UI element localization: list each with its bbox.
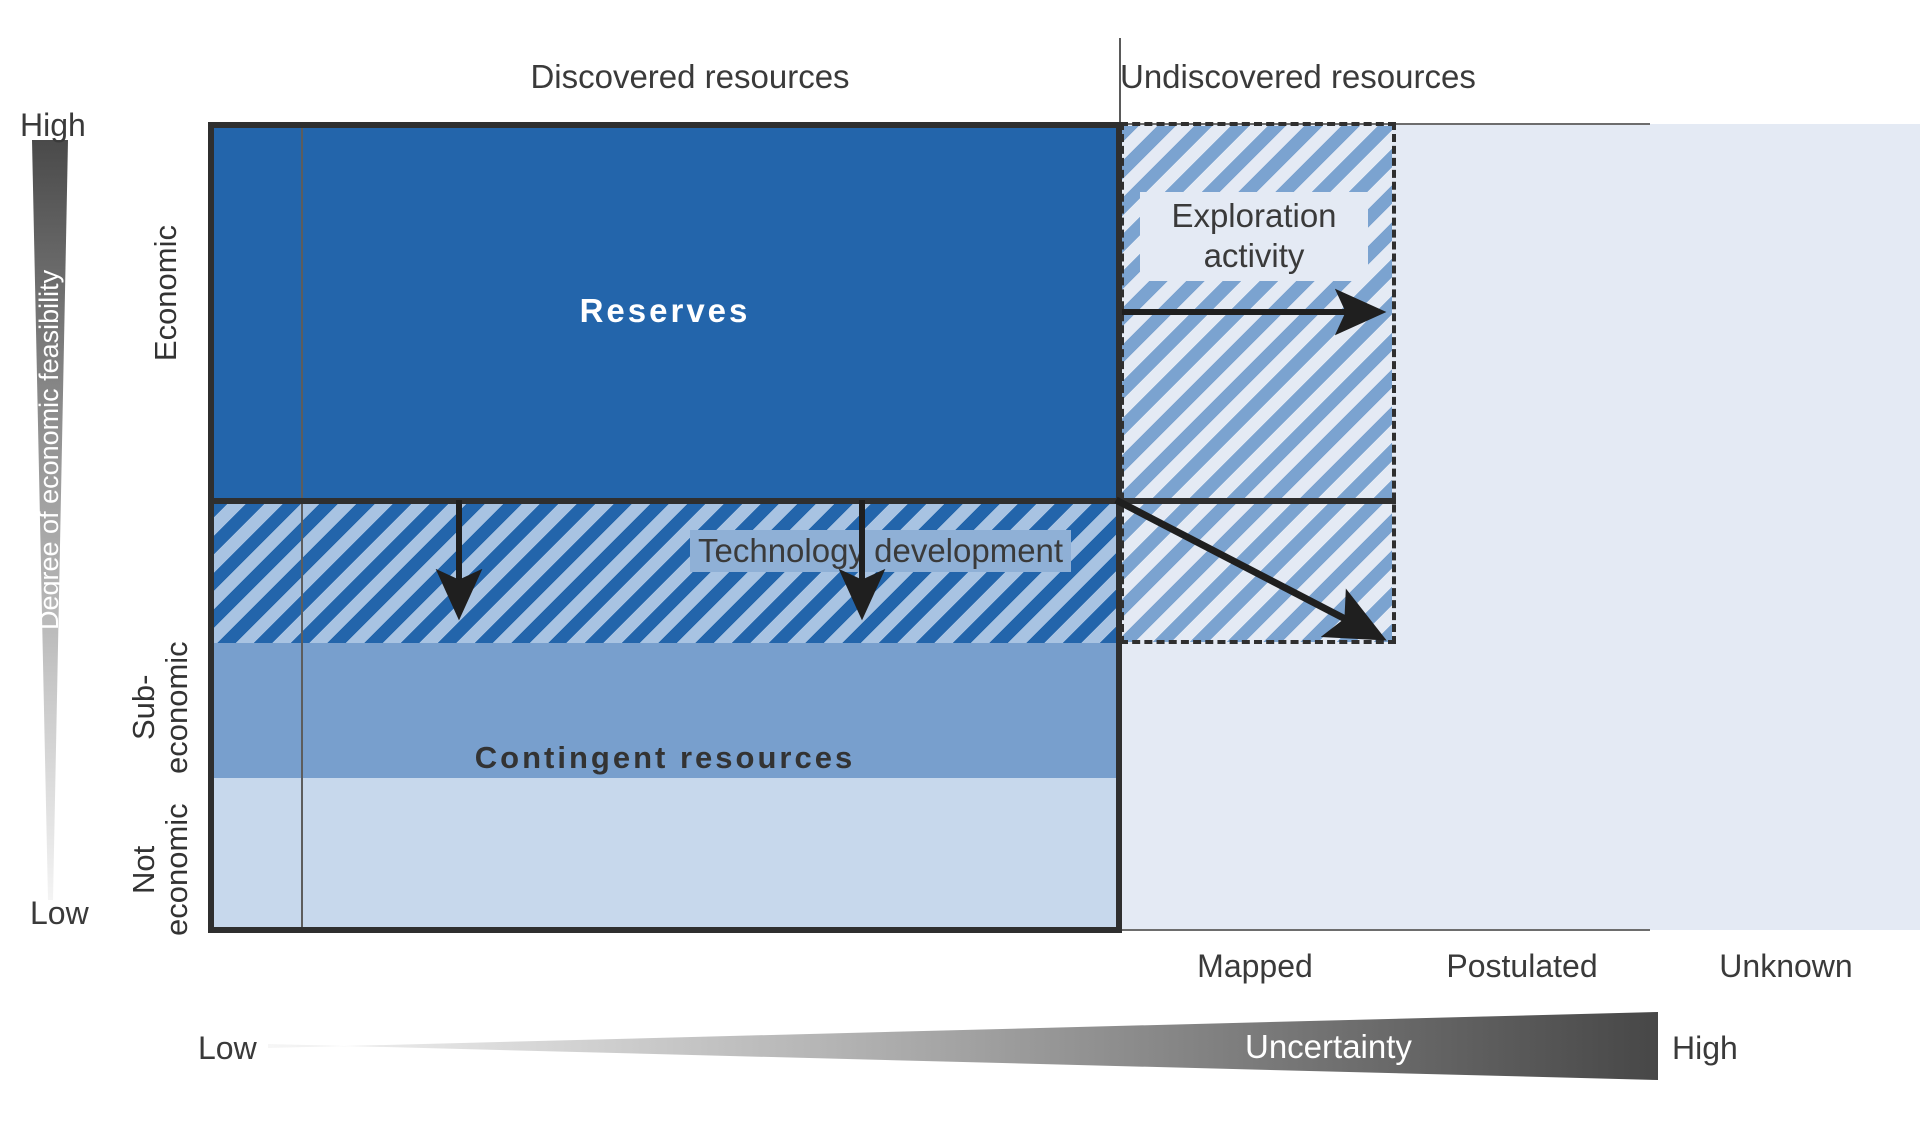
undiscovered-mid-rule bbox=[1120, 498, 1396, 504]
xcat-unknown-text: Unknown bbox=[1719, 948, 1852, 984]
uncertainty-low-label: Low bbox=[198, 1030, 257, 1067]
technology-development-label: Technology development bbox=[690, 530, 1071, 572]
reserves-label: Reserves bbox=[212, 292, 1118, 330]
axis-category-economic: Economic bbox=[150, 225, 183, 361]
discovered-interior-rule bbox=[301, 126, 303, 929]
not-economic-region bbox=[212, 778, 1118, 929]
axis-category-noteconomic-line2: economic bbox=[159, 804, 194, 937]
axis-category-noteconomic-line1: Not bbox=[126, 846, 161, 894]
xcat-mapped-text: Mapped bbox=[1197, 948, 1313, 984]
exploration-activity-line2: activity bbox=[1204, 237, 1305, 274]
economic-feasibility-gradient-label: Degree of economic feasibility bbox=[34, 150, 65, 630]
axis-category-economic-text: Economic bbox=[148, 225, 183, 361]
header-discovered-resources: Discovered resources bbox=[260, 58, 1120, 96]
header-undiscovered-resources: Undiscovered resources bbox=[1120, 58, 1920, 96]
undiscovered-economic-hatched-cell bbox=[1122, 126, 1392, 498]
undiscovered-subeconomic-hatched-cell bbox=[1122, 504, 1392, 642]
axis-category-subeconomic-line2: economic bbox=[159, 641, 194, 774]
axis-high-label: High bbox=[20, 107, 86, 144]
undiscovered-top-rule bbox=[1120, 123, 1650, 125]
uncertainty-high-label: High bbox=[1672, 1030, 1738, 1067]
xcat-unknown: Unknown bbox=[1652, 948, 1920, 985]
exploration-activity-line1: Exploration bbox=[1171, 197, 1336, 234]
uncertainty-label: Uncertainty bbox=[1245, 1028, 1412, 1066]
contingent-resources-label: Contingent resources bbox=[212, 740, 1118, 776]
axis-category-noteconomic: Not economic bbox=[128, 800, 193, 947]
gradient-label-text: Degree of economic feasibility bbox=[34, 270, 64, 630]
axis-category-subeconomic-line1: Sub- bbox=[126, 675, 161, 740]
xcat-postulated-text: Postulated bbox=[1446, 948, 1597, 984]
axis-category-subeconomic: Sub- economic bbox=[128, 635, 193, 787]
axis-low-label: Low bbox=[30, 895, 89, 932]
uncertainty-gradient bbox=[268, 1006, 1658, 1086]
xcat-postulated: Postulated bbox=[1392, 948, 1652, 985]
xcat-mapped: Mapped bbox=[1120, 948, 1390, 985]
diagram-canvas: Degree of economic feasibility High Low … bbox=[0, 0, 1920, 1138]
subeconomic-hatched-region bbox=[212, 503, 1118, 643]
reserves-bottom-rule bbox=[208, 498, 1122, 504]
exploration-activity-label: Exploration activity bbox=[1140, 192, 1368, 281]
undiscovered-bottom-rule bbox=[1120, 929, 1650, 931]
